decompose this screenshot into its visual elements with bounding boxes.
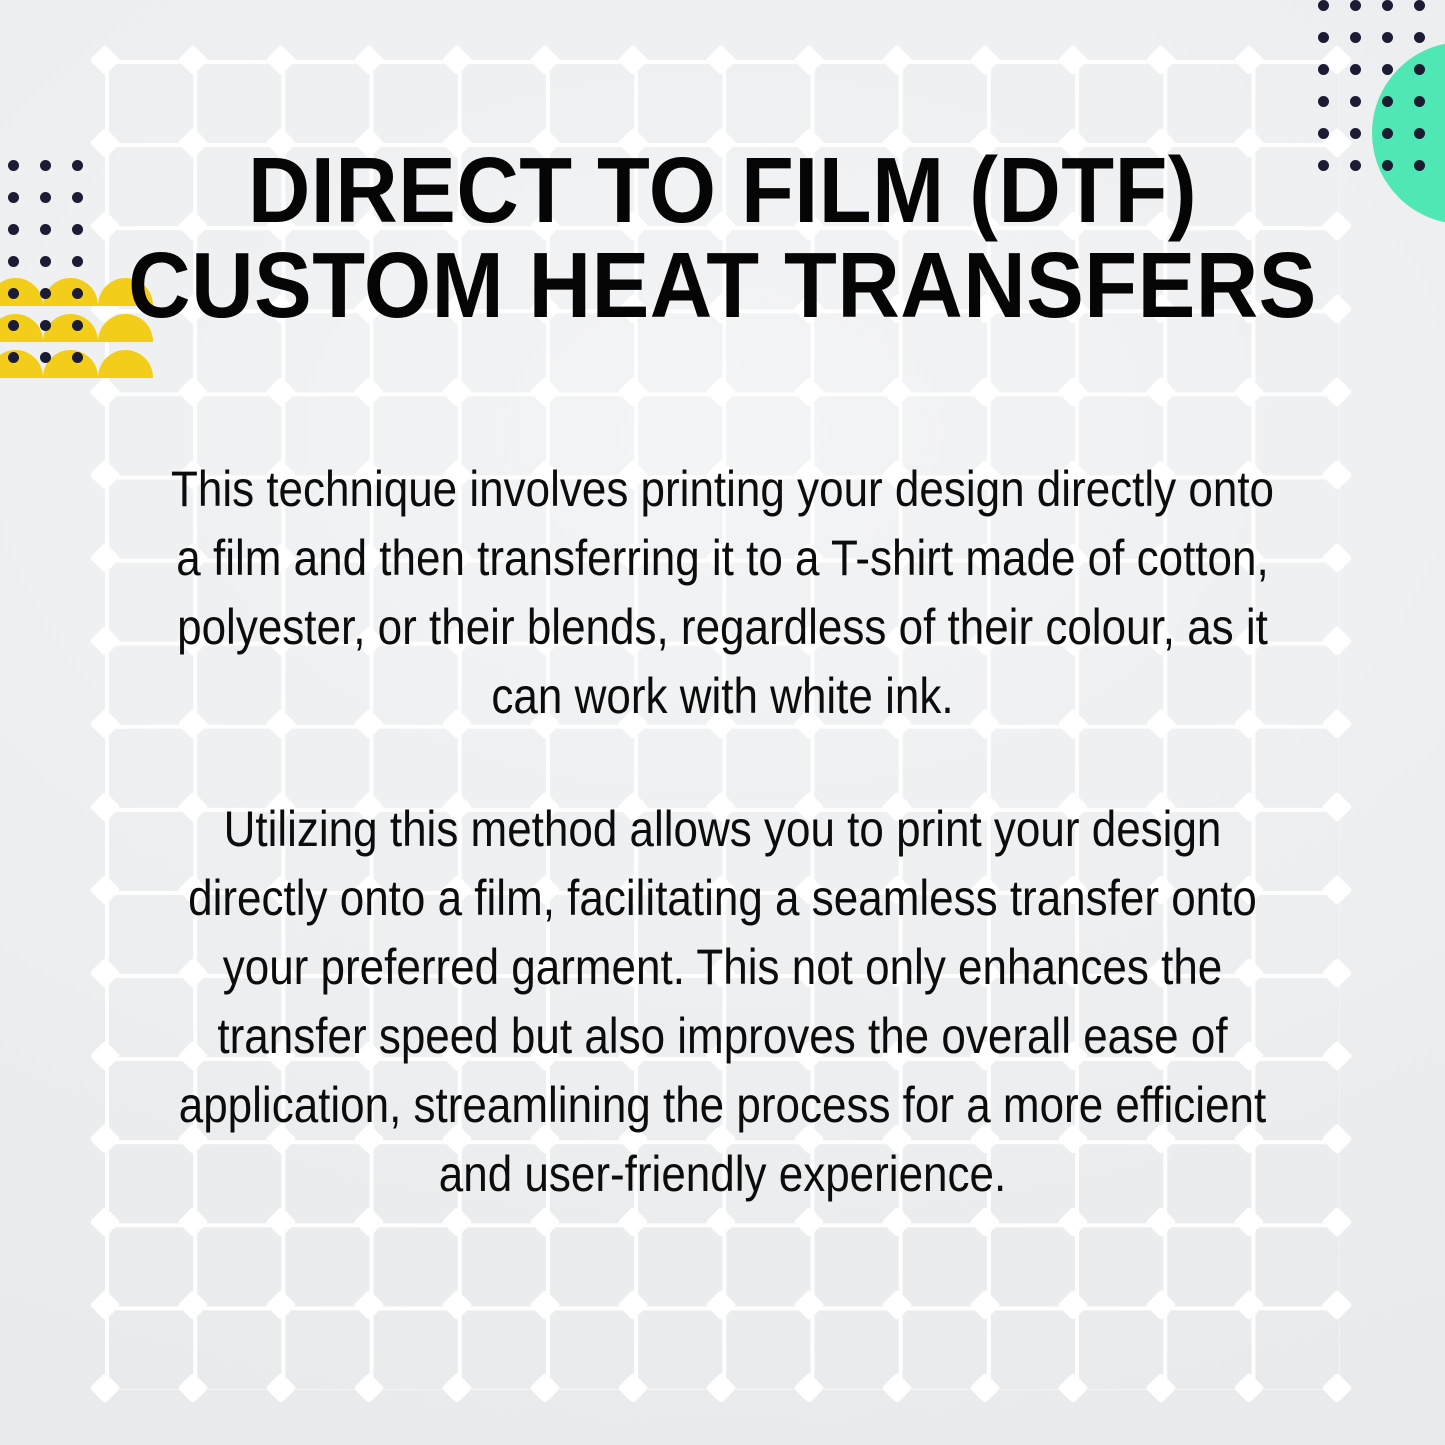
title-line-2: CUSTOM HEAT TRANSFERS bbox=[51, 238, 1395, 333]
page-title: DIRECT TO FILM (DTF) CUSTOM HEAT TRANSFE… bbox=[51, 143, 1395, 333]
paragraph-text: Utilizing this method allows you to prin… bbox=[170, 795, 1274, 1209]
poster-canvas: DIRECT TO FILM (DTF) CUSTOM HEAT TRANSFE… bbox=[0, 0, 1445, 1445]
title-line-1: DIRECT TO FILM (DTF) bbox=[51, 143, 1395, 238]
poster-content: DIRECT TO FILM (DTF) CUSTOM HEAT TRANSFE… bbox=[0, 0, 1445, 1445]
description-paragraph-2: Utilizing this method allows you to prin… bbox=[170, 795, 1274, 1209]
paragraph-text: This technique involves printing your de… bbox=[170, 455, 1274, 731]
description-paragraph-1: This technique involves printing your de… bbox=[170, 455, 1274, 731]
